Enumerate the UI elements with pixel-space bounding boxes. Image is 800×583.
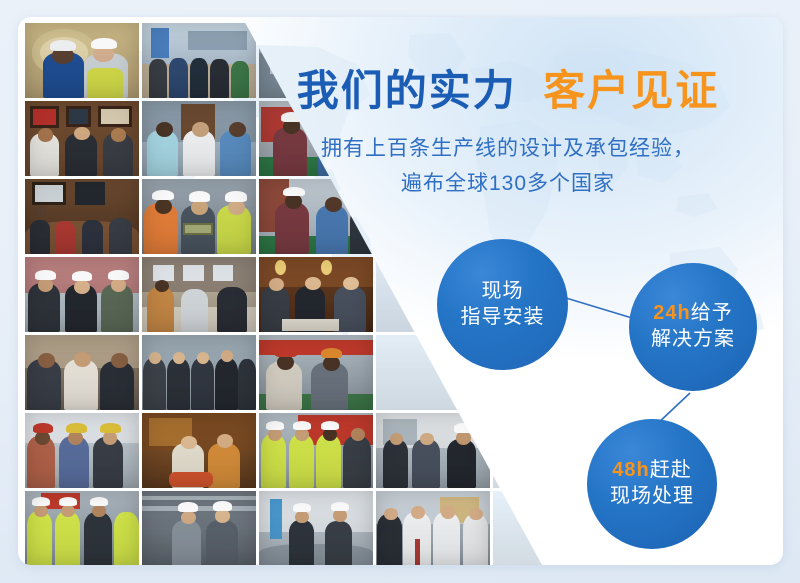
node-24h-line-2: 解决方案 xyxy=(651,327,735,353)
node-24h-line-1-rest: 给予 xyxy=(691,302,733,324)
collage-photo xyxy=(142,491,256,565)
collage-photo xyxy=(142,179,256,254)
collage-photo xyxy=(142,23,256,98)
collage-photo xyxy=(25,23,139,98)
node-48h-line-1-rest: 赶赴 xyxy=(650,459,692,481)
content-panel: 我们的实力 客户见证 拥有上百条生产线的设计及承包经验， 遍布全球130多个国家… xyxy=(258,17,783,565)
banner-card: 我们的实力 客户见证 拥有上百条生产线的设计及承包经验， 遍布全球130多个国家… xyxy=(18,17,783,565)
collage-photo xyxy=(25,179,139,254)
node-48h-hours: 48h xyxy=(612,459,649,481)
collage-photo xyxy=(142,101,256,176)
node-24h-hours: 24h xyxy=(653,302,690,324)
node-24h-line-1: 24h给予 xyxy=(653,301,732,327)
collage-photo xyxy=(25,413,139,488)
node-onsite[interactable]: 现场 指导安装 xyxy=(437,239,568,370)
collage-photo xyxy=(25,335,139,410)
node-48h-line-1: 48h赶赴 xyxy=(612,458,691,484)
collage-photo xyxy=(25,101,139,176)
collage-photo xyxy=(142,413,256,488)
collage-photo xyxy=(142,257,256,332)
collage-photo xyxy=(25,491,139,565)
node-48h-line-2: 现场处理 xyxy=(610,484,694,510)
collage-photo xyxy=(25,257,139,332)
service-node-diagram: 现场 指导安装 24h给予 解决方案 48h赶赴 现场处理 xyxy=(258,17,783,565)
node-dispatch-48h[interactable]: 48h赶赴 现场处理 xyxy=(587,419,717,549)
node-onsite-line-2: 指导安装 xyxy=(461,305,545,331)
node-support-24h[interactable]: 24h给予 解决方案 xyxy=(629,263,757,391)
node-onsite-line-1: 现场 xyxy=(482,279,524,305)
collage-photo xyxy=(142,335,256,410)
